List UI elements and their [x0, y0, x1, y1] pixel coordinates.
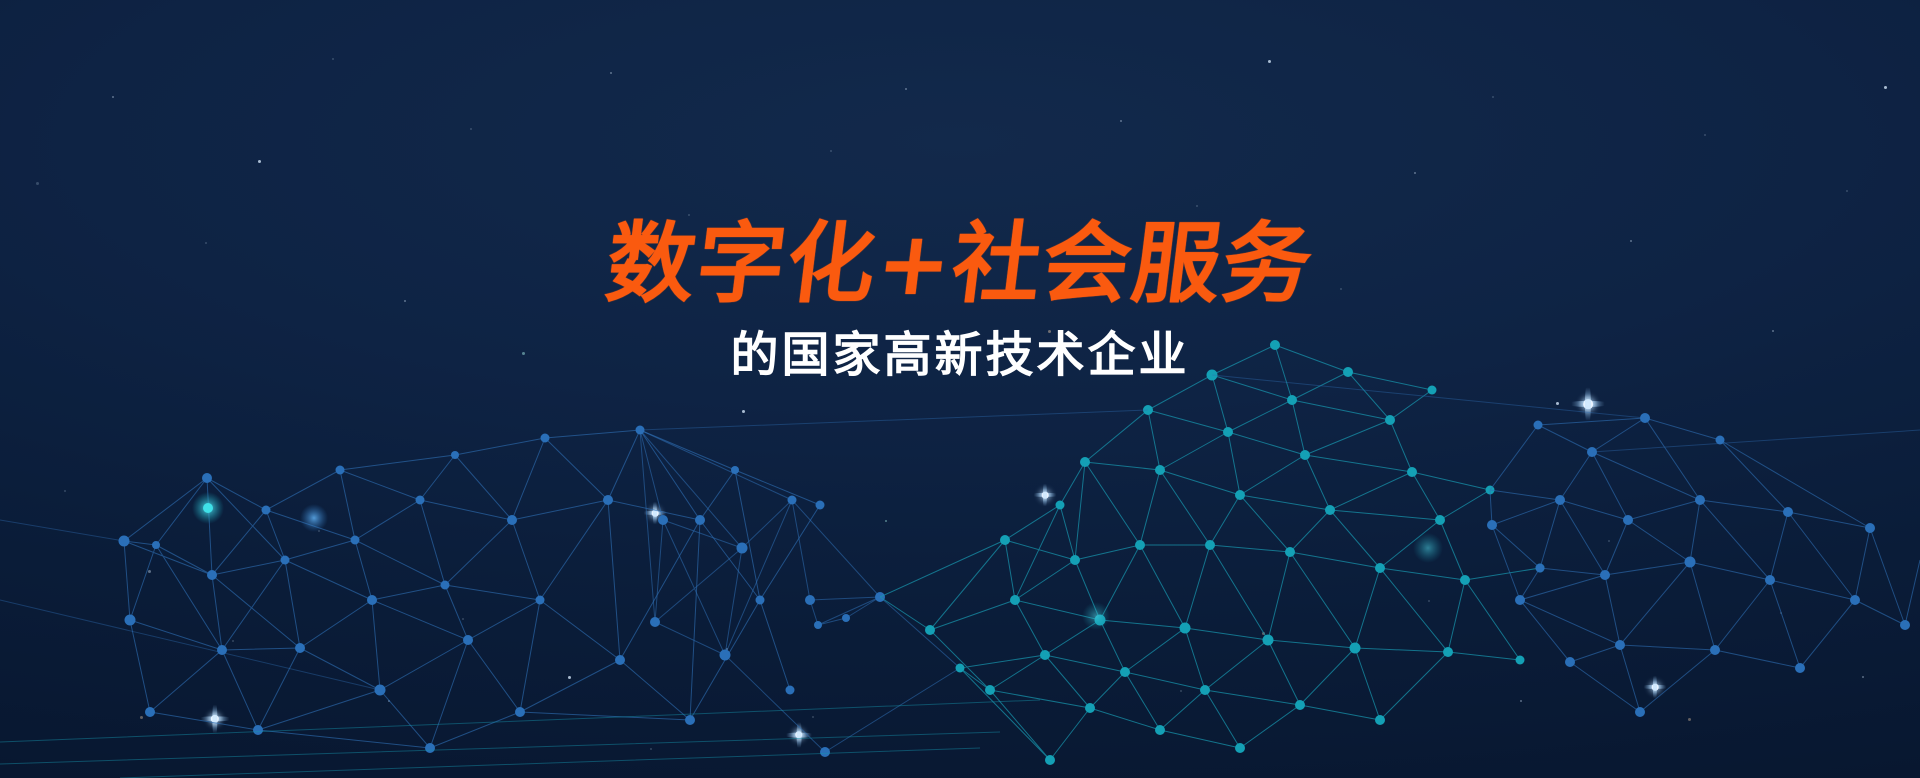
hero-banner: 数字化+社会服务 的国家高新技术企业	[0, 0, 1920, 778]
hero-text-block: 数字化+社会服务 的国家高新技术企业	[0, 218, 1920, 383]
network-graphic	[0, 0, 1920, 778]
page-subtitle: 的国家高新技术企业	[0, 330, 1920, 383]
page-title: 数字化+社会服务	[0, 218, 1920, 310]
